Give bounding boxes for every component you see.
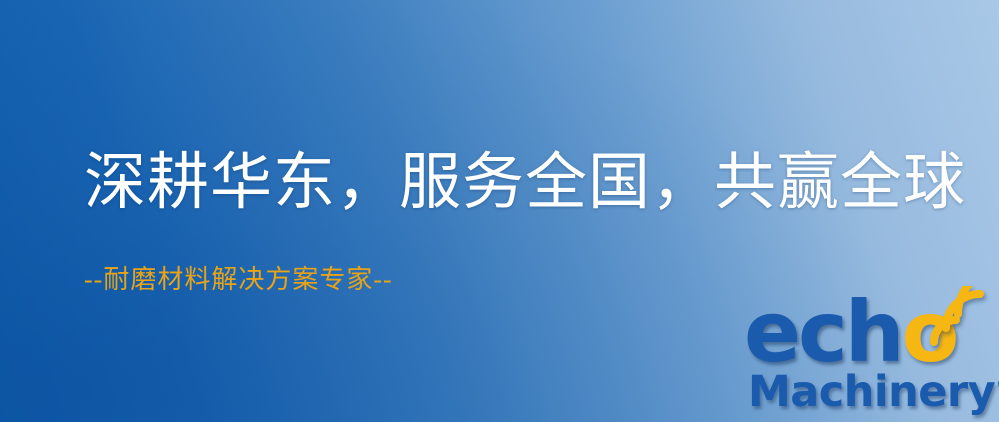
logo-machinery-text: Machinery® xyxy=(748,364,999,414)
signal-waves-icon xyxy=(928,286,994,348)
promo-banner: 深耕华东，服务全国，共赢全球 --耐磨材料解决方案专家-- echo Machi… xyxy=(0,0,999,422)
logo-wordmark: echo xyxy=(742,292,992,374)
banner-headline: 深耕华东，服务全国，共赢全球 xyxy=(84,151,966,216)
logo-machinery-label: Machinery xyxy=(748,367,995,417)
logo-echo-text: echo xyxy=(744,290,956,374)
registered-trademark-icon: ® xyxy=(995,373,999,398)
banner-subtitle: --耐磨材料解决方案专家-- xyxy=(84,266,393,295)
echo-machinery-logo[interactable]: echo Machinery® xyxy=(742,292,992,418)
